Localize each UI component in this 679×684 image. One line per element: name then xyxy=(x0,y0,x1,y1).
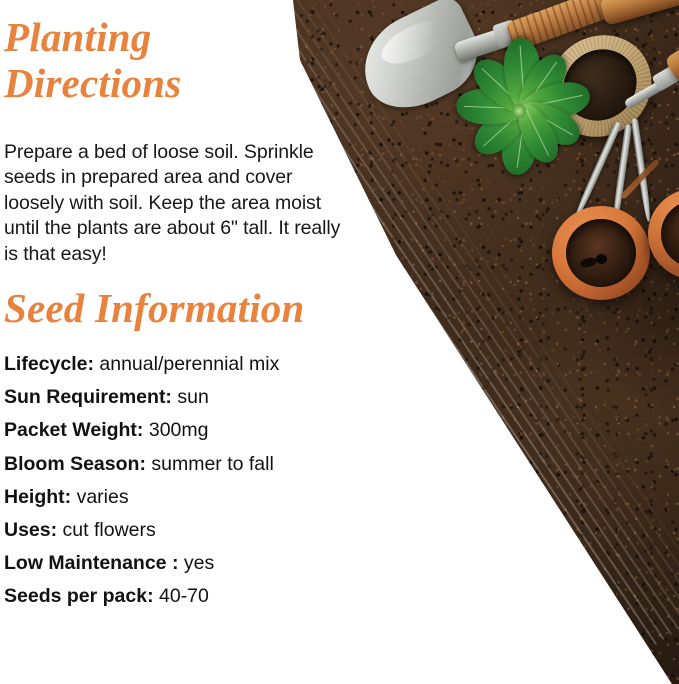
list-item: Low Maintenance : yes xyxy=(4,547,394,580)
spec-label: Height: xyxy=(4,486,71,508)
spec-label: Bloom Season: xyxy=(4,453,146,475)
spec-value: yes xyxy=(184,552,214,574)
list-item: Lifecycle: annual/perennial mix xyxy=(4,348,394,381)
spec-label: Packet Weight: xyxy=(4,419,143,441)
planting-directions-heading: Planting Directions xyxy=(4,14,334,106)
spec-label: Low Maintenance : xyxy=(4,552,178,574)
spec-value: summer to fall xyxy=(151,453,273,475)
spec-label: Sun Requirement: xyxy=(4,386,172,408)
list-item: Height: varies xyxy=(4,481,394,514)
planting-directions-paragraph: Prepare a bed of loose soil. Sprinkle se… xyxy=(4,140,354,268)
seed-information-list: Lifecycle: annual/perennial mix Sun Requ… xyxy=(4,348,394,614)
spec-value: varies xyxy=(77,486,129,508)
spec-value: annual/perennial mix xyxy=(99,353,279,375)
spec-label: Lifecycle: xyxy=(4,353,94,375)
spec-value: cut flowers xyxy=(63,519,156,541)
list-item: Packet Weight: 300mg xyxy=(4,414,394,447)
list-item: Bloom Season: summer to fall xyxy=(4,448,394,481)
list-item: Sun Requirement: sun xyxy=(4,381,394,414)
spec-label: Seeds per pack: xyxy=(4,585,154,607)
spec-value: 300mg xyxy=(149,419,209,441)
seed-packet-panel: Planting Directions Prepare a bed of loo… xyxy=(0,0,679,684)
spec-value: 40-70 xyxy=(159,585,209,607)
spec-value: sun xyxy=(177,386,208,408)
seed-information-heading: Seed Information xyxy=(4,285,305,331)
spec-label: Uses: xyxy=(4,519,57,541)
list-item: Uses: cut flowers xyxy=(4,514,394,547)
list-item: Seeds per pack: 40-70 xyxy=(4,580,394,613)
